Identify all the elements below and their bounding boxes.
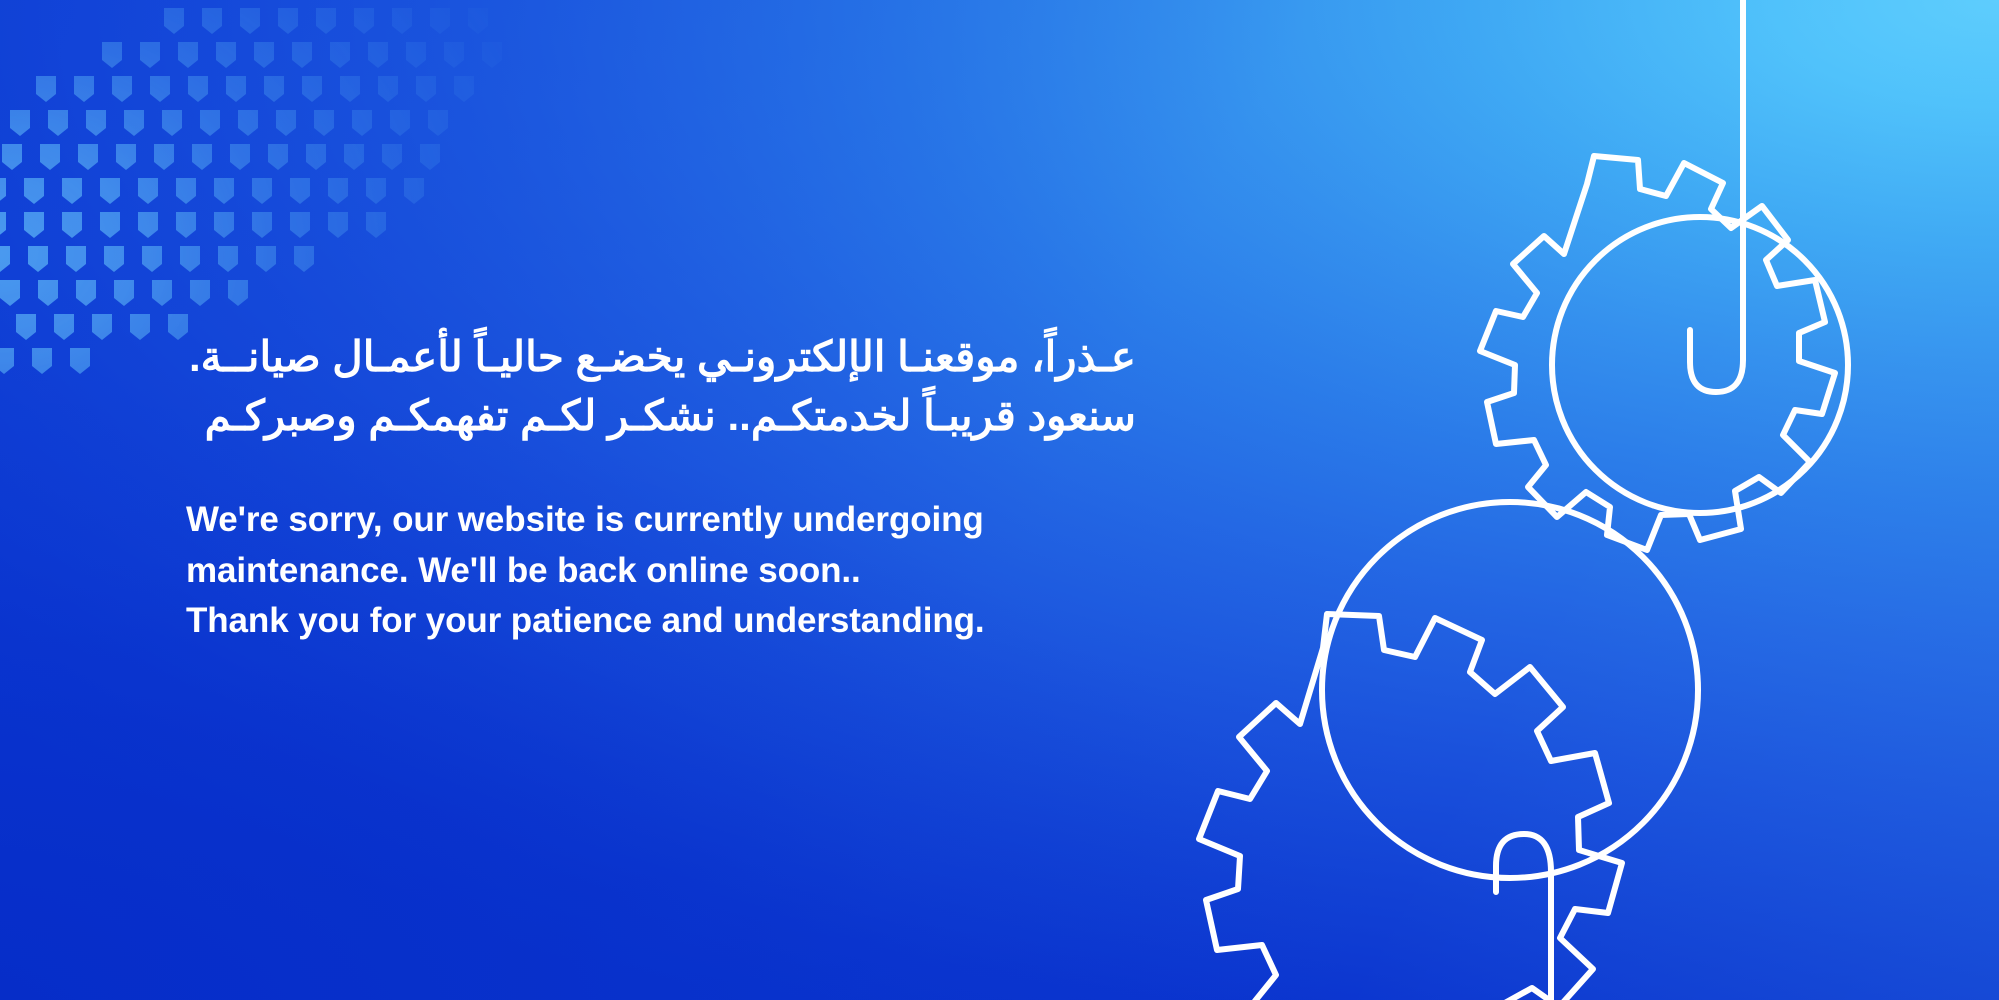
english-message-line-3: Thank you for your patience and understa… (186, 596, 1146, 646)
maintenance-page: عـذراً، موقعنـا الإلكترونـي يخضـع حاليـا… (0, 0, 1999, 1000)
english-message: We're sorry, our website is currently un… (186, 495, 1146, 646)
arabic-message: عـذراً، موقعنـا الإلكترونـي يخضـع حاليـا… (186, 330, 1136, 443)
message-block: عـذراً، موقعنـا الإلكترونـي يخضـع حاليـا… (186, 330, 1146, 646)
arabic-message-line-2: سنعود قريبـاً لخدمتكـم.. نشكـر لكـم تفهم… (186, 389, 1136, 444)
arabic-message-line-1: عـذراً، موقعنـا الإلكترونـي يخضـع حاليـا… (186, 330, 1136, 385)
english-message-line-1: We're sorry, our website is currently un… (186, 495, 1146, 545)
english-message-line-2: maintenance. We'll be back online soon.. (186, 546, 1146, 596)
